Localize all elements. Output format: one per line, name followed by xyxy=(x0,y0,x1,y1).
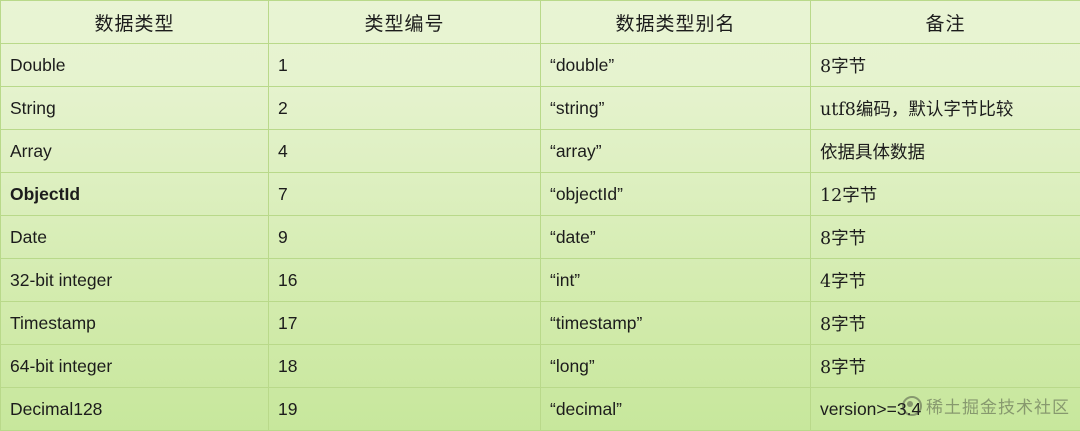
cell-code: 4 xyxy=(269,130,541,173)
cell-remark: version>=3.4 xyxy=(811,388,1080,431)
cell-remark: 4字节 xyxy=(811,259,1080,302)
cell-code: 9 xyxy=(269,216,541,259)
cell-alias: “timestamp” xyxy=(541,302,811,345)
table-row: Array 4 “array” 依据具体数据 xyxy=(1,130,1080,173)
table-row: 32-bit integer 16 “int” 4字节 xyxy=(1,259,1080,302)
cell-code: 16 xyxy=(269,259,541,302)
cell-type: Timestamp xyxy=(1,302,269,345)
cell-code: 19 xyxy=(269,388,541,431)
cell-alias: “objectId” xyxy=(541,173,811,216)
cell-type: Decimal128 xyxy=(1,388,269,431)
cell-remark: 8字节 xyxy=(811,302,1080,345)
table-row: 64-bit integer 18 “long” 8字节 xyxy=(1,345,1080,388)
cell-code: 2 xyxy=(269,87,541,130)
cell-alias: “string” xyxy=(541,87,811,130)
cell-alias: “double” xyxy=(541,44,811,87)
cell-code: 1 xyxy=(269,44,541,87)
table-row: Decimal128 19 “decimal” version>=3.4 xyxy=(1,388,1080,431)
cell-remark: 12字节 xyxy=(811,173,1080,216)
cell-alias: “date” xyxy=(541,216,811,259)
cell-code: 7 xyxy=(269,173,541,216)
cell-remark: 8字节 xyxy=(811,44,1080,87)
cell-code: 17 xyxy=(269,302,541,345)
column-header-type: 数据类型 xyxy=(1,1,269,44)
table-row: Date 9 “date” 8字节 xyxy=(1,216,1080,259)
cell-type: Date xyxy=(1,216,269,259)
cell-type: 64-bit integer xyxy=(1,345,269,388)
cell-type: String xyxy=(1,87,269,130)
table-row: Timestamp 17 “timestamp” 8字节 xyxy=(1,302,1080,345)
cell-remark: 8字节 xyxy=(811,345,1080,388)
header-row: 数据类型 类型编号 数据类型别名 备注 xyxy=(1,1,1080,44)
data-type-table: 数据类型 类型编号 数据类型别名 备注 Double 1 “double” 8字… xyxy=(0,0,1080,431)
cell-alias: “long” xyxy=(541,345,811,388)
cell-alias: “int” xyxy=(541,259,811,302)
cell-type: Double xyxy=(1,44,269,87)
cell-alias: “array” xyxy=(541,130,811,173)
cell-type: 32-bit integer xyxy=(1,259,269,302)
table-header: 数据类型 类型编号 数据类型别名 备注 xyxy=(1,1,1080,44)
table-container: 数据类型 类型编号 数据类型别名 备注 Double 1 “double” 8字… xyxy=(0,0,1080,430)
column-header-remark: 备注 xyxy=(811,1,1080,44)
column-header-alias: 数据类型别名 xyxy=(541,1,811,44)
cell-remark: 8字节 xyxy=(811,216,1080,259)
cell-alias: “decimal” xyxy=(541,388,811,431)
table-body: Double 1 “double” 8字节 String 2 “string” … xyxy=(1,44,1080,431)
cell-type: Array xyxy=(1,130,269,173)
cell-remark: 依据具体数据 xyxy=(811,130,1080,173)
table-row: Double 1 “double” 8字节 xyxy=(1,44,1080,87)
cell-remark: utf8编码，默认字节比较 xyxy=(811,87,1080,130)
cell-type: ObjectId xyxy=(1,173,269,216)
table-row: String 2 “string” utf8编码，默认字节比较 xyxy=(1,87,1080,130)
column-header-code: 类型编号 xyxy=(269,1,541,44)
table-row: ObjectId 7 “objectId” 12字节 xyxy=(1,173,1080,216)
cell-code: 18 xyxy=(269,345,541,388)
